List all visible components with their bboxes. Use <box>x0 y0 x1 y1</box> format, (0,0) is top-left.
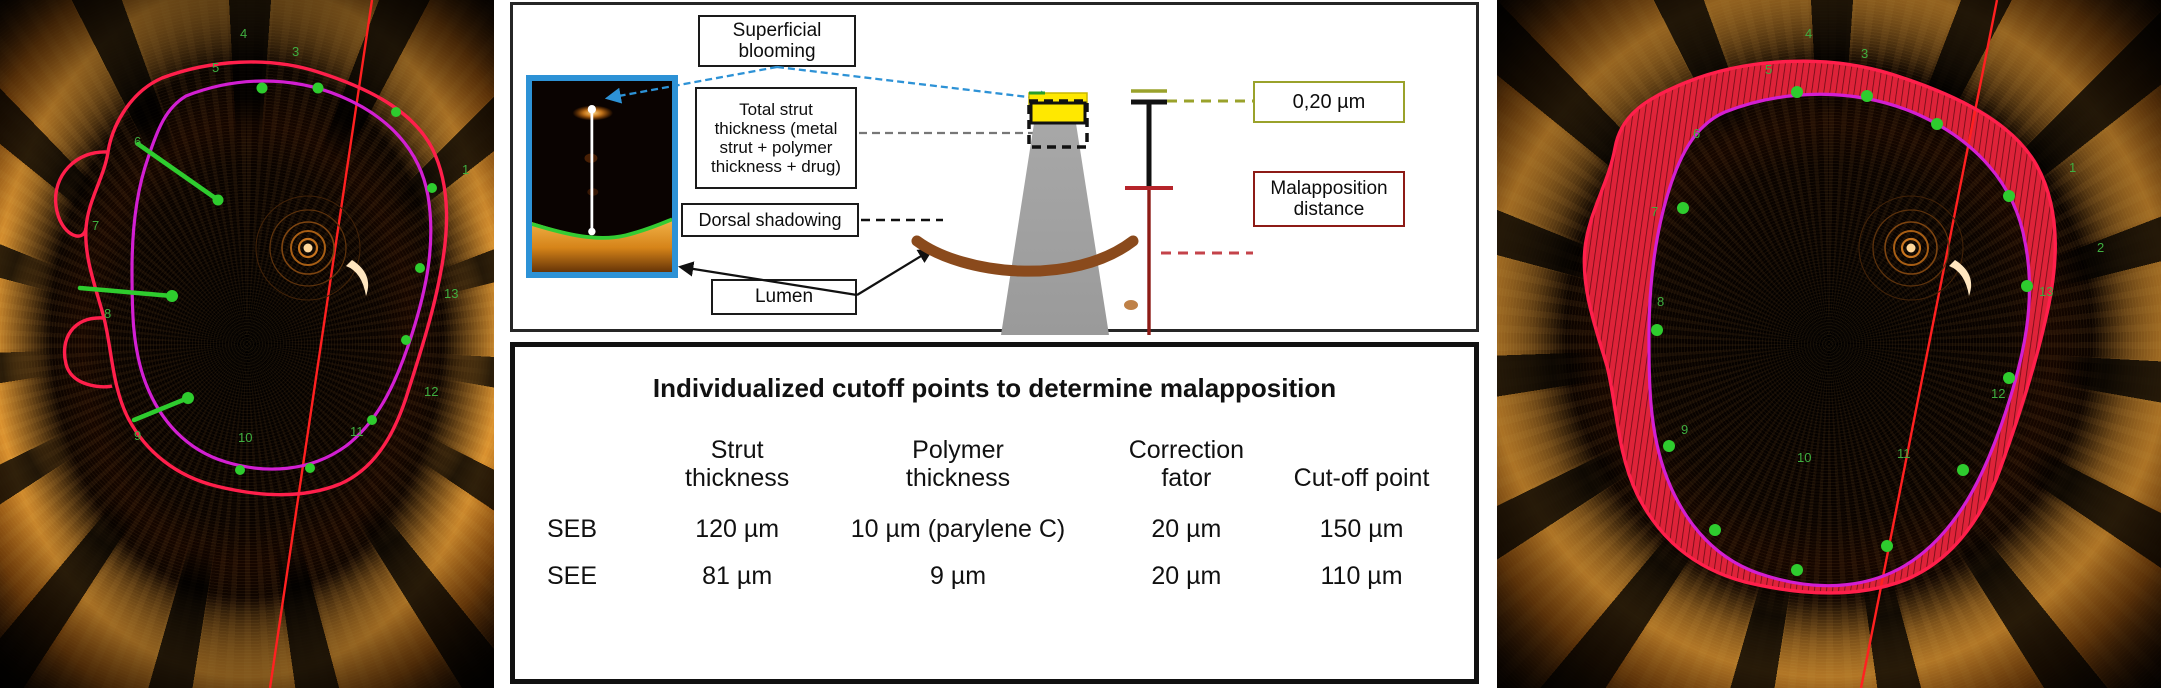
svg-text:11: 11 <box>1897 446 1911 461</box>
svg-text:4: 4 <box>1805 26 1812 41</box>
svg-text:1: 1 <box>2069 160 2076 175</box>
svg-text:3: 3 <box>292 44 299 59</box>
cell-seb-correction-factor: 20 µm <box>1106 506 1267 553</box>
header-polymer-thickness: Polymer thickness <box>810 433 1105 506</box>
svg-text:5: 5 <box>212 60 219 75</box>
malapposition-measure-lines <box>80 144 218 420</box>
header-polymer-thickness-line1: Polymer <box>812 437 1103 465</box>
catheter-artifact <box>256 196 368 300</box>
dorsal-shadow-cone <box>1001 117 1109 335</box>
leader-blooming-to-schematic <box>777 67 1053 100</box>
cutoff-table-panel: Individualized cutoff points to determin… <box>510 342 1479 684</box>
cell-seb-strut-thickness: 120 µm <box>664 506 810 553</box>
svg-text:10: 10 <box>1797 450 1811 465</box>
svg-text:3: 3 <box>1861 46 1868 61</box>
svg-text:9: 9 <box>1681 422 1688 437</box>
header-correction-factor-line1: Correction <box>1108 437 1265 465</box>
svg-text:7: 7 <box>92 218 99 233</box>
cell-see-strut-thickness: 81 µm <box>664 553 810 600</box>
leader-blooming-to-inset <box>608 67 777 98</box>
header-correction-factor: Correction fator <box>1106 433 1267 506</box>
svg-text:6: 6 <box>134 134 141 149</box>
leader-lumen-to-vessel <box>857 250 931 295</box>
svg-text:9: 9 <box>134 428 141 443</box>
svg-text:1: 1 <box>462 162 469 177</box>
table-row: SEB 120 µm 10 µm (parylene C) 20 µm 150 … <box>537 506 1456 553</box>
svg-text:7: 7 <box>1651 204 1658 219</box>
header-polymer-thickness-line2: thickness <box>812 465 1103 493</box>
row-label-seb: SEB <box>537 506 664 553</box>
svg-text:12: 12 <box>1991 386 2005 401</box>
oct-right-annotations: 3 4 5 6 7 8 9 10 11 12 13 1 2 <box>1497 0 2161 688</box>
cell-see-cutoff-point: 110 µm <box>1267 553 1456 600</box>
schematic-diagram-panel: Superficial blooming Total strut thickne… <box>510 2 1479 332</box>
cell-seb-polymer-thickness: 10 µm (parylene C) <box>810 506 1105 553</box>
lumen-contour-lobe-1 <box>56 152 108 236</box>
oct-left-annotations: 3 4 5 6 7 8 9 10 11 12 13 1 <box>0 0 494 688</box>
svg-text:8: 8 <box>1657 294 1664 309</box>
svg-text:13: 13 <box>444 286 458 301</box>
oct-left-canvas: 3 4 5 6 7 8 9 10 11 12 13 1 <box>0 0 494 688</box>
table-title: Individualized cutoff points to determin… <box>515 373 1474 404</box>
cell-see-correction-factor: 20 µm <box>1106 553 1267 600</box>
leader-lumen-to-inset <box>681 267 857 295</box>
cutoff-table: Strut thickness Polymer thickness Correc… <box>537 433 1456 600</box>
svg-text:8: 8 <box>104 306 111 321</box>
header-correction-factor-line2: fator <box>1108 465 1265 493</box>
header-cutoff-point: Cut-off point <box>1267 433 1456 506</box>
svg-text:11: 11 <box>350 424 364 439</box>
strut-markers <box>166 83 437 476</box>
header-strut-thickness: Strut thickness <box>664 433 810 506</box>
diagram-vector-art <box>513 5 1482 335</box>
figure-root: 3 4 5 6 7 8 9 10 11 12 13 1 <box>0 0 2161 688</box>
cell-seb-cutoff-point: 150 µm <box>1267 506 1456 553</box>
table-row: SEE 81 µm 9 µm 20 µm 110 µm <box>537 553 1456 600</box>
header-strut-thickness-line1: Strut <box>666 437 808 465</box>
svg-text:2: 2 <box>2097 240 2104 255</box>
oct-right-canvas: 3 4 5 6 7 8 9 10 11 12 13 1 2 <box>1497 0 2161 688</box>
svg-text:10: 10 <box>238 430 252 445</box>
svg-text:4: 4 <box>240 26 247 41</box>
strut-blob <box>1124 300 1138 310</box>
svg-text:5: 5 <box>1765 62 1772 77</box>
table-header-row: Strut thickness Polymer thickness Correc… <box>537 433 1456 506</box>
svg-text:6: 6 <box>1693 126 1700 141</box>
header-strut-thickness-line2: thickness <box>666 465 808 493</box>
header-row-label <box>537 433 664 506</box>
svg-text:13: 13 <box>2039 284 2053 299</box>
oct-image-right: 3 4 5 6 7 8 9 10 11 12 13 1 2 <box>1497 0 2161 688</box>
row-label-see: SEE <box>537 553 664 600</box>
svg-text:12: 12 <box>424 384 438 399</box>
middle-column: Superficial blooming Total strut thickne… <box>510 0 1487 688</box>
strut-metal-body <box>1031 103 1085 123</box>
cell-see-polymer-thickness: 9 µm <box>810 553 1105 600</box>
header-cutoff-point-line1: Cut-off point <box>1269 465 1454 493</box>
oct-image-left: 3 4 5 6 7 8 9 10 11 12 13 1 <box>0 0 494 688</box>
